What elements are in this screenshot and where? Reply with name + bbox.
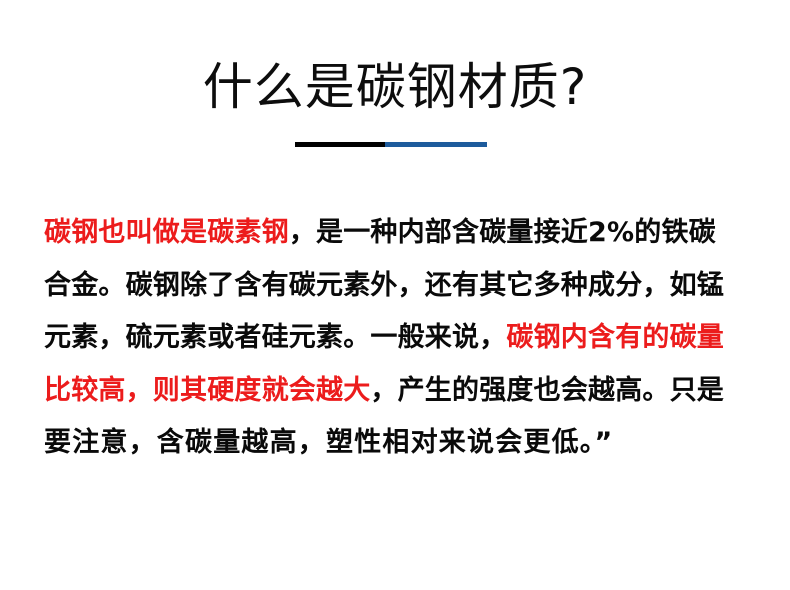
- body-line: 元素，硫元素或者硅元素。一般来说，碳钢内含有的碳量: [44, 312, 750, 365]
- title-block: 什么是碳钢材质?: [0, 22, 790, 151]
- text-segment-plain: ，产生的强度也会越高。只是: [370, 375, 724, 406]
- text-segment-highlight: 碳钢也叫做是碳素钢: [44, 217, 289, 248]
- text-segment-plain: 元素，硫元素或者硅元素。一般来说，: [44, 322, 506, 353]
- text-segment-plain: 要注意，含碳量越高，塑性相对来说会更低。”: [44, 427, 613, 458]
- divider-segment-blue: [385, 142, 487, 147]
- page-title: 什么是碳钢材质?: [203, 56, 588, 118]
- divider-segment-black: [295, 142, 385, 147]
- text-segment-plain: ，是一种内部含碳量接近2%的铁碳: [289, 217, 716, 248]
- body-line: 碳钢也叫做是碳素钢，是一种内部含碳量接近2%的铁碳: [44, 207, 750, 260]
- text-segment-highlight: 比较高，则其硬度就会越大: [44, 375, 370, 406]
- text-segment-highlight: 碳钢内含有的碳量: [506, 322, 724, 353]
- body-text-block: 碳钢也叫做是碳素钢，是一种内部含碳量接近2%的铁碳 合金。碳钢除了含有碳元素外，…: [44, 207, 750, 470]
- body-line: 要注意，含碳量越高，塑性相对来说会更低。”: [44, 417, 750, 470]
- slide-canvas: 什么是碳钢材质? 碳钢也叫做是碳素钢，是一种内部含碳量接近2%的铁碳 合金。碳钢…: [0, 0, 790, 590]
- text-segment-plain: 合金。碳钢除了含有碳元素外，还有其它多种成分，如锰: [44, 270, 724, 301]
- title-divider: [295, 142, 487, 147]
- body-line: 比较高，则其硬度就会越大，产生的强度也会越高。只是: [44, 365, 750, 418]
- body-line: 合金。碳钢除了含有碳元素外，还有其它多种成分，如锰: [44, 260, 750, 313]
